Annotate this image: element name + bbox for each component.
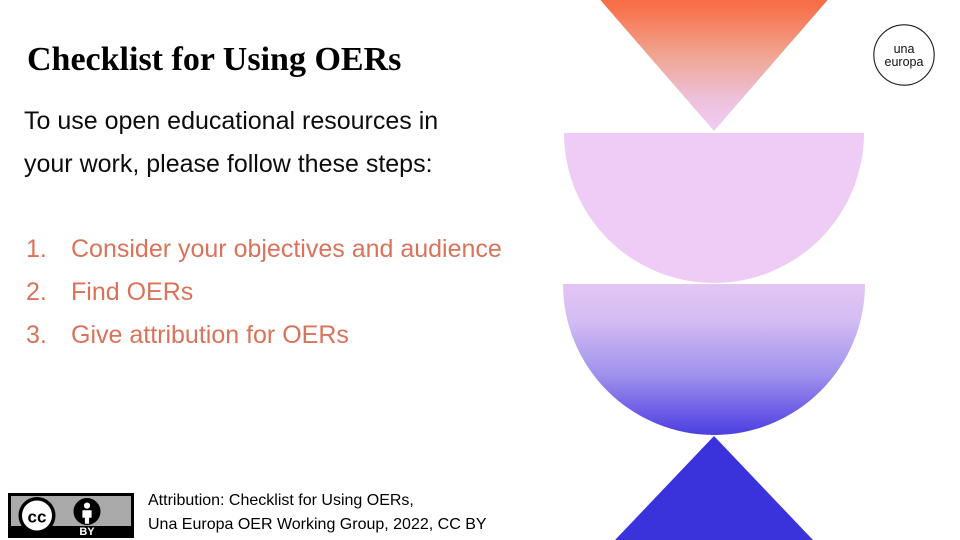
attribution-line-1: Attribution: Checklist for Using OERs, — [148, 489, 487, 513]
logo-text-line1: una — [894, 42, 915, 56]
lavender-blue-semicircle-lower-shape — [563, 133, 865, 435]
badge-by-label: BY — [79, 526, 95, 538]
step-label: Find OERs — [71, 278, 193, 306]
logo-text-line2: europa — [885, 55, 924, 69]
step-number: 3. — [26, 314, 60, 357]
orange-triangle-down-shape — [583, 0, 845, 131]
intro-line-2: your work, please follow these steps: — [24, 143, 564, 186]
step-label: Give attribution for OERs — [71, 321, 349, 349]
list-item: 1. Consider your objectives and audience — [24, 228, 554, 271]
una-europa-logo: una europa — [872, 23, 936, 87]
page-title: Checklist for Using OERs — [27, 39, 557, 81]
attribution-text: Attribution: Checklist for Using OERs, U… — [148, 489, 487, 537]
blue-triangle-up-shape — [596, 436, 832, 540]
intro-paragraph: To use open educational resources in you… — [24, 100, 564, 186]
intro-line-1: To use open educational resources in — [24, 100, 564, 143]
attribution-block: cc BY Attribution: Checklist for Using O… — [8, 489, 487, 538]
attribution-line-2: Una Europa OER Working Group, 2022, CC B… — [148, 513, 487, 537]
step-number: 2. — [26, 271, 60, 314]
cc-circle-icon: cc — [19, 497, 56, 534]
list-item: 2. Find OERs — [24, 271, 554, 314]
lavender-semicircle-upper-shape — [564, 0, 864, 283]
step-label: Consider your objectives and audience — [71, 235, 502, 263]
steps-list: 1. Consider your objectives and audience… — [24, 228, 554, 357]
attribution-person-icon — [74, 498, 101, 525]
step-number: 1. — [26, 228, 60, 271]
cc-by-badge-icon: cc BY — [8, 493, 134, 538]
slide-canvas: una europa Checklist for Using OERs To u… — [0, 0, 960, 540]
list-item: 3. Give attribution for OERs — [24, 314, 554, 357]
svg-text:cc: cc — [28, 508, 47, 527]
